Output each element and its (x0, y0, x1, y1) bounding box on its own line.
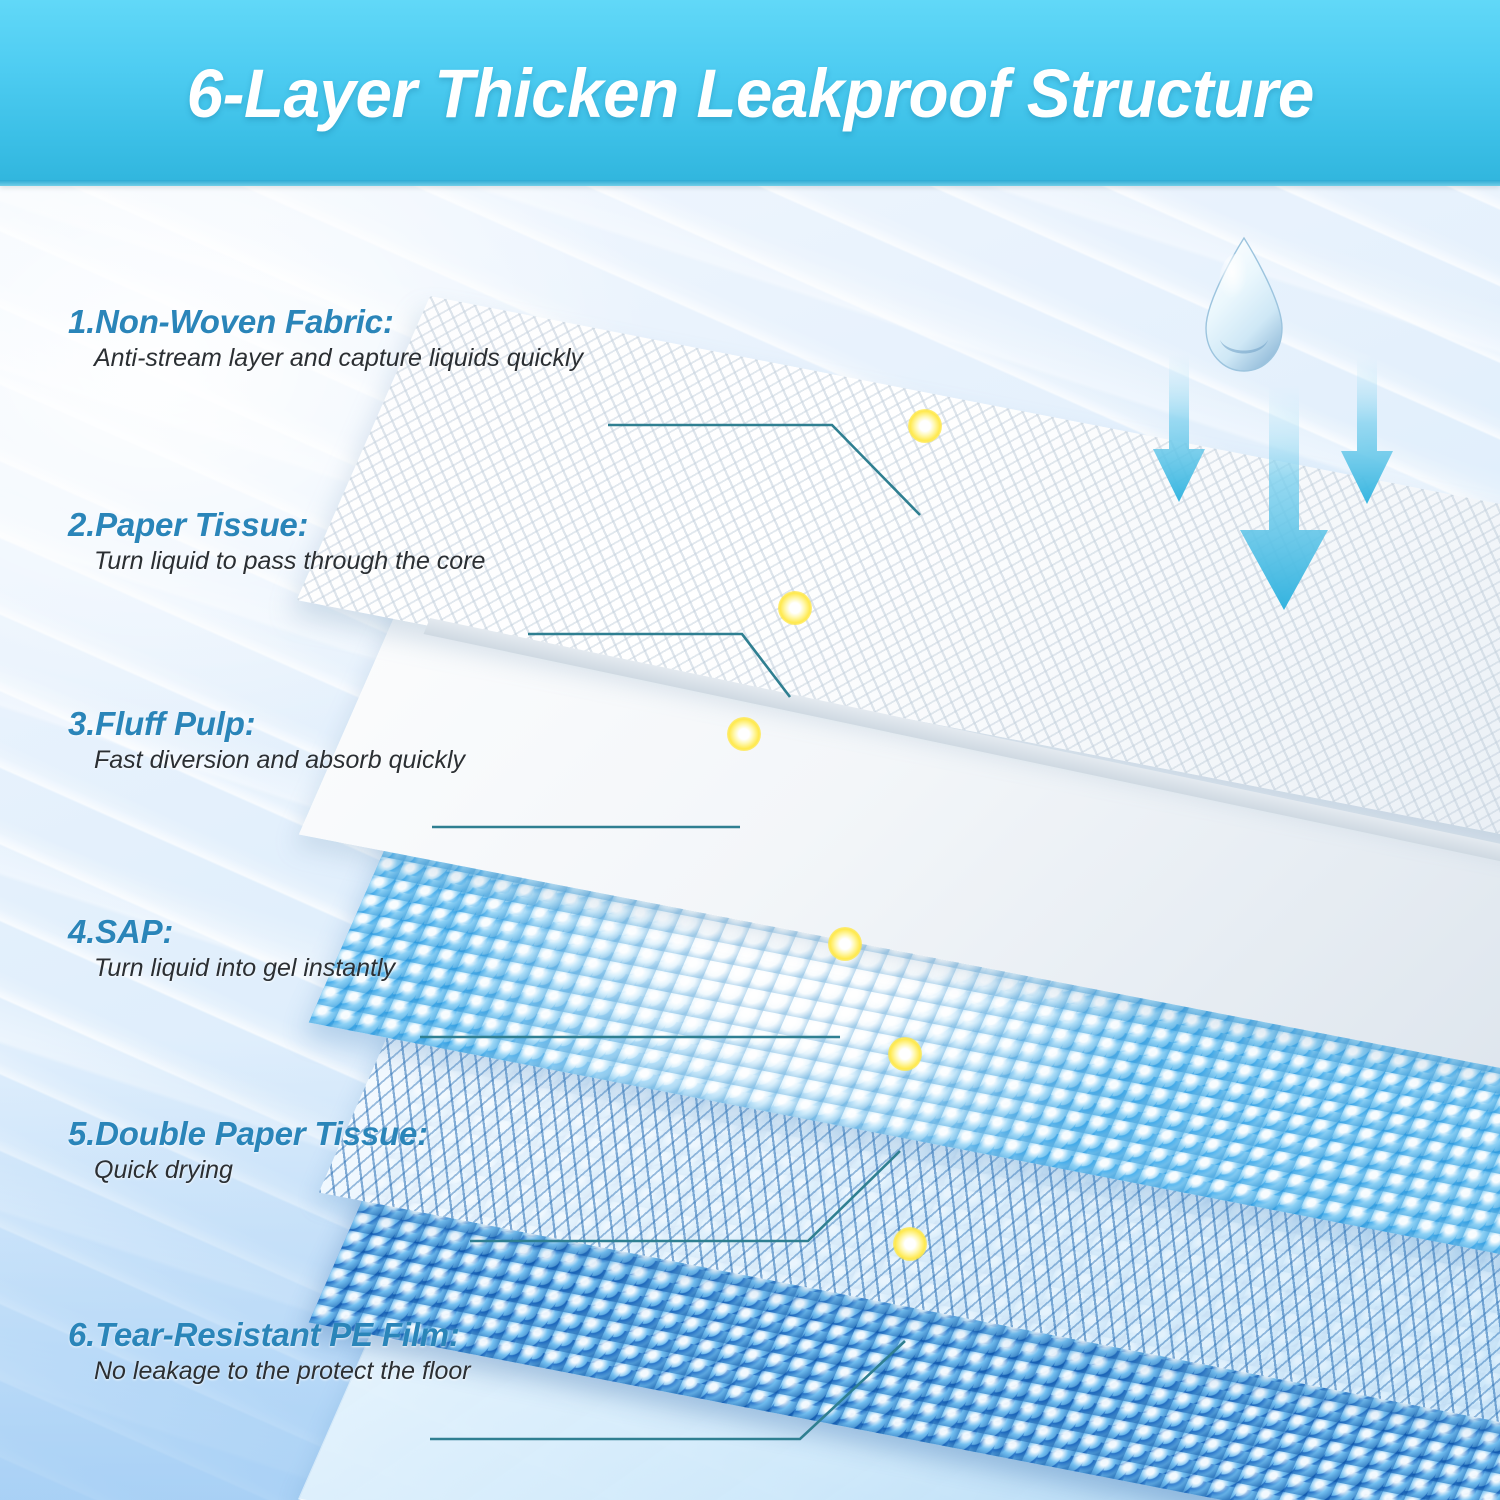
infographic-page: 6-Layer Thicken Leakproof Structure (0, 0, 1500, 1500)
layer-label-5: 5.Double Paper Tissue: Quick drying (68, 1117, 428, 1184)
marker-dot-2 (778, 591, 812, 625)
layer-label-2: 2.Paper Tissue: Turn liquid to pass thro… (68, 508, 485, 575)
marker-dot-3 (727, 717, 761, 751)
layer-stack-illustration (0, 186, 1500, 1500)
layer-label-6: 6.Tear-Resistant PE Film: No leakage to … (68, 1318, 471, 1385)
marker-dot-4 (828, 927, 862, 961)
water-droplet-icon (1196, 236, 1292, 374)
marker-dot-1 (908, 409, 942, 443)
header-banner: 6-Layer Thicken Leakproof Structure (0, 0, 1500, 186)
marker-dot-6 (893, 1227, 927, 1261)
layer-label-2-subtitle: Turn liquid to pass through the core (94, 548, 485, 576)
page-title: 6-Layer Thicken Leakproof Structure (186, 54, 1313, 133)
layer-label-1-title: 1.Non-Woven Fabric: (68, 305, 583, 340)
layer-label-3-title: 3.Fluff Pulp: (68, 707, 465, 742)
layer-label-5-subtitle: Quick drying (94, 1157, 428, 1185)
marker-dot-5 (888, 1037, 922, 1071)
layer-label-6-subtitle: No leakage to the protect the floor (94, 1358, 471, 1386)
layer-label-4-title: 4.SAP: (68, 915, 395, 950)
layer-label-2-title: 2.Paper Tissue: (68, 508, 485, 543)
layer-label-4: 4.SAP: Turn liquid into gel instantly (68, 915, 395, 982)
layer-label-5-title: 5.Double Paper Tissue: (68, 1117, 428, 1152)
layer-label-4-subtitle: Turn liquid into gel instantly (94, 955, 395, 983)
layer-label-3-subtitle: Fast diversion and absorb quickly (94, 747, 465, 775)
layer-label-3: 3.Fluff Pulp: Fast diversion and absorb … (68, 707, 465, 774)
layer-label-6-title: 6.Tear-Resistant PE Film: (68, 1318, 471, 1353)
layer-label-1-subtitle: Anti-stream layer and capture liquids qu… (94, 345, 583, 373)
layer-label-1: 1.Non-Woven Fabric: Anti-stream layer an… (68, 305, 583, 372)
